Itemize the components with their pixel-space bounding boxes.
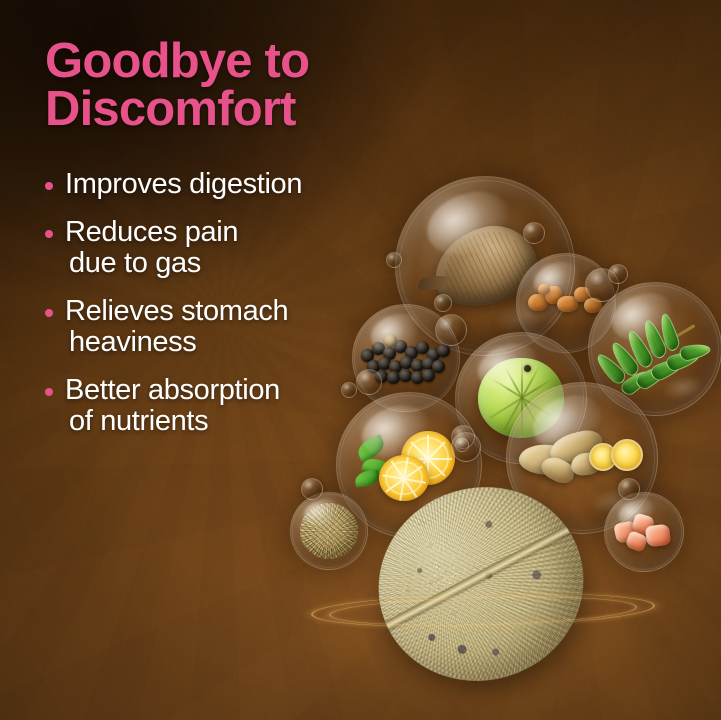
benefit-text-line-2: due to gas [65, 248, 395, 279]
product-tablet [372, 488, 592, 688]
headline-line-2: Discomfort [45, 86, 395, 134]
page-title: Goodbye to Discomfort [45, 38, 395, 133]
bullet-dot-icon [45, 182, 53, 190]
mini-bubble [608, 264, 628, 284]
mini-bubble [435, 314, 467, 346]
bullet-dot-icon [45, 230, 53, 238]
benefits-list: Improves digestion Reduces pain due to g… [45, 169, 395, 437]
benefit-text-line-2: of nutrients [65, 406, 395, 437]
copy-block: Goodbye to Discomfort Improves digestion… [45, 38, 395, 437]
benefit-text-line-1: Better absorption [65, 374, 280, 406]
mini-bubble [451, 432, 481, 462]
mini-bubble [434, 294, 452, 312]
headline-line-1: Goodbye to [45, 38, 395, 86]
bullet-dot-icon [45, 309, 53, 317]
mini-bubble [523, 222, 545, 244]
product-benefits-poster: Goodbye to Discomfort Improves digestion… [0, 0, 721, 720]
benefit-text-line-1: Relieves stomach [65, 295, 288, 327]
benefit-item-4: Better absorption of nutrients [45, 375, 395, 437]
benefit-item-3: Relieves stomach heaviness [45, 296, 395, 358]
benefit-item-1: Improves digestion [45, 169, 395, 200]
benefit-text-line-2: heaviness [65, 327, 395, 358]
benefit-text-line-1: Reduces pain [65, 216, 238, 248]
bullet-dot-icon [45, 388, 53, 396]
benefit-item-2: Reduces pain due to gas [45, 217, 395, 279]
benefit-text-line-1: Improves digestion [65, 168, 302, 200]
